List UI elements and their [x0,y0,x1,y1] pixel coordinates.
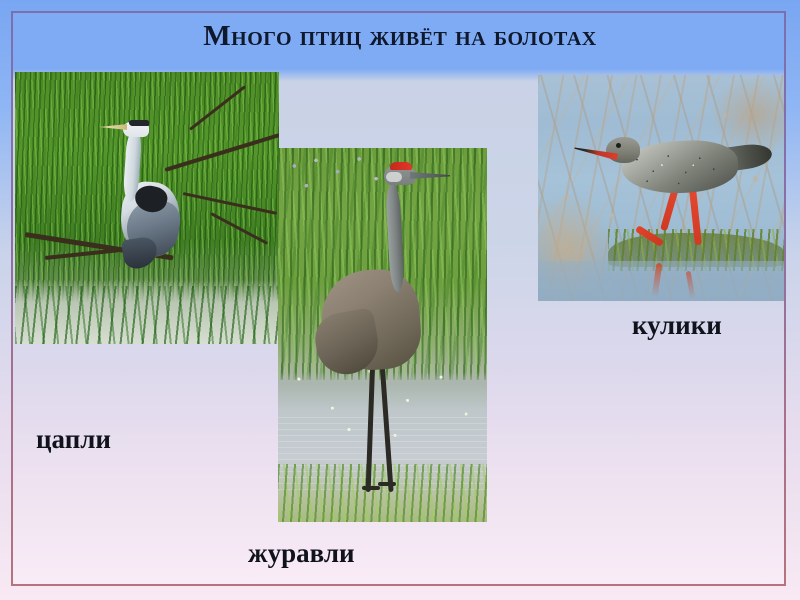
heron-crown-stripe [129,120,149,126]
heron-foreground-grass [15,286,279,344]
sandhill-crane-photo[interactable] [278,148,487,522]
heron-bill [99,124,127,130]
page-title: Много птиц живёт на болотах [0,20,800,53]
crane-red-crown [390,162,412,170]
redshank-photo[interactable] [538,75,785,301]
common-redshank-bird [580,131,770,251]
redshank-front-leg [689,189,702,245]
crane-left-foot [362,486,380,490]
crane-right-foot [378,482,396,486]
caption-cranes: журавли [248,538,355,569]
redshank-rear-leg-upper [660,187,679,231]
redshank-head [606,137,640,163]
crane-left-leg [366,356,376,492]
caption-herons: цапли [36,424,111,455]
redshank-rear-leg-lower [635,225,664,247]
redshank-eye [616,143,621,148]
sandhill-crane-bird [304,160,444,500]
grey-heron-photo[interactable] [15,72,279,344]
heron-tail [121,236,159,270]
crane-right-leg [379,360,393,492]
crane-cheek-patch [386,172,402,182]
caption-waders: кулики [632,310,722,341]
grey-heron-bird [101,120,191,270]
slide-canvas: Много птиц живёт на болотах [0,0,800,600]
